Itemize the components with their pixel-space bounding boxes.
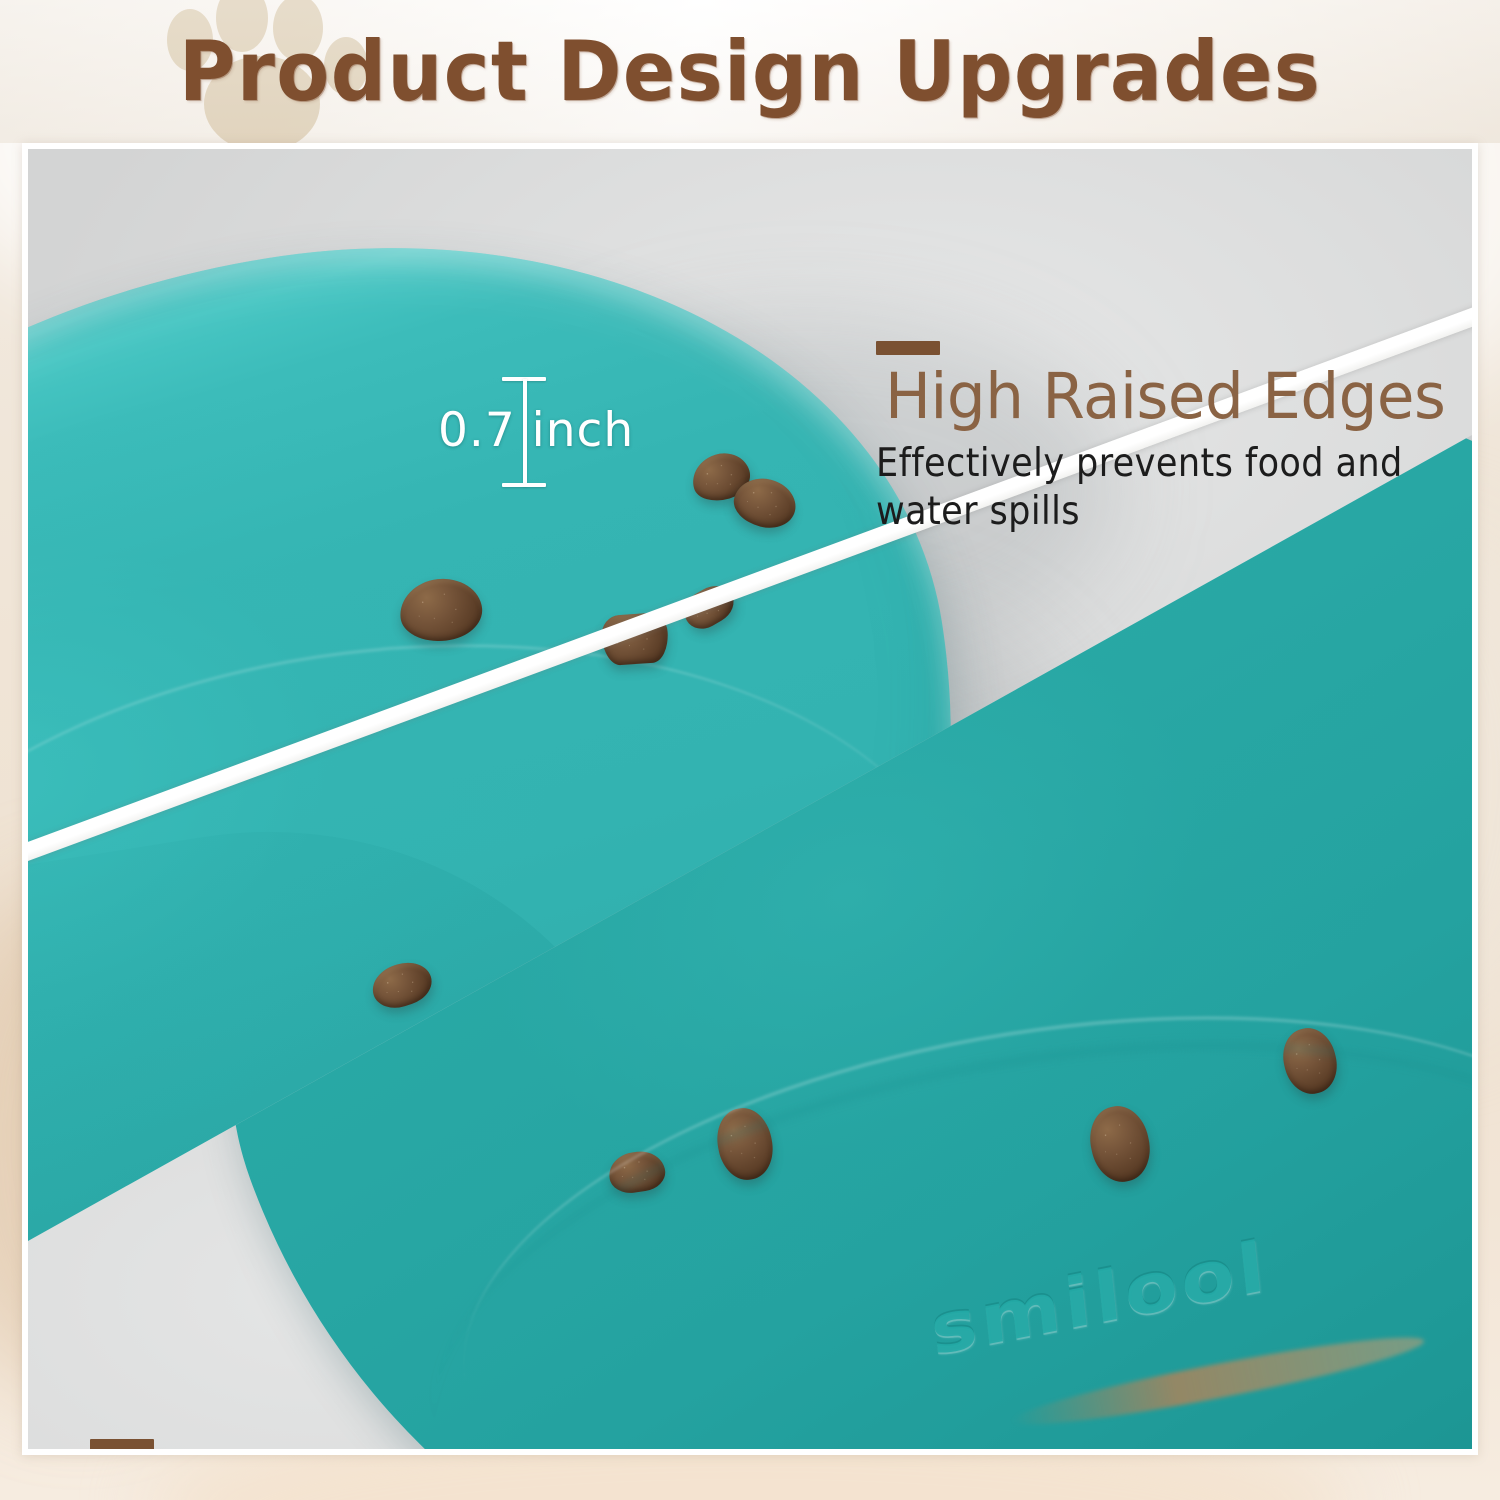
accent-bar [876,341,940,355]
photo-collage: 0.7 inch smilool [28,149,1472,1449]
header-band: Product Design Upgrades [0,0,1500,143]
product-photo-panel: 0.7 inch smilool [22,143,1478,1455]
callout-body: Effectively prevents food and water spil… [876,440,1472,535]
dimension-cap-bottom [502,483,546,487]
callout-heading: High Raised Edges [885,365,1463,428]
image-frame: Product Design Upgrades [0,0,1500,1500]
page-title: Product Design Upgrades [53,0,1448,143]
callout-high-raised-edges: High Raised Edges Effectively prevents f… [876,341,1472,535]
accent-bar [90,1439,154,1449]
dimension-value: 0.7 inch [438,403,634,458]
callout-keeping-floor-clean: Keeping the floor clean Minimizes time s… [90,1439,1005,1449]
